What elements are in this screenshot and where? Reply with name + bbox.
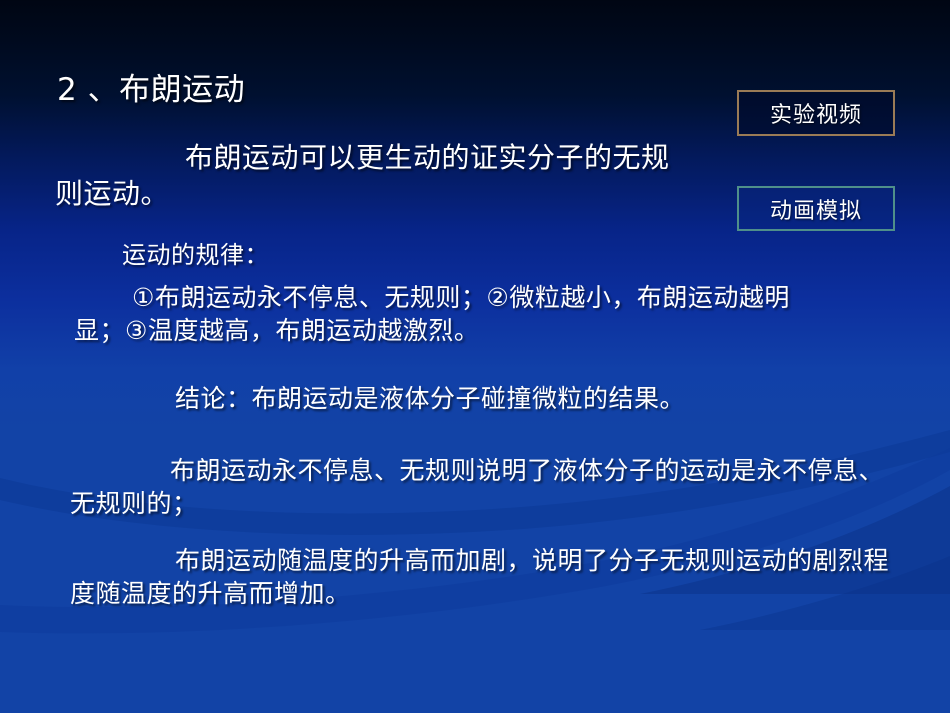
experiment-video-button-label: 实验视频	[770, 97, 862, 129]
conclusion-text: 结论：布朗运动是液体分子碰撞微粒的结果。	[175, 383, 685, 416]
slide-content-layer: 2 、布朗运动 布朗运动可以更生动的证实分子的无规则运动。 运动的规律： ①布朗…	[0, 0, 950, 713]
animation-simulation-button-label: 动画模拟	[770, 193, 862, 225]
rules-heading: 运动的规律：	[122, 240, 269, 271]
rules-body: ①布朗运动永不停息、无规则；②微粒越小，布朗运动越明显；③温度越高，布朗运动越激…	[74, 282, 834, 347]
lead-paragraph: 布朗运动可以更生动的证实分子的无规则运动。	[55, 140, 695, 213]
slide-canvas: 2 、布朗运动 布朗运动可以更生动的证实分子的无规则运动。 运动的规律： ①布朗…	[0, 0, 950, 713]
explanation-paragraph-1: 布朗运动永不停息、无规则说明了液体分子的运动是永不停息、无规则的；	[70, 455, 890, 520]
page-title: 2 、布朗运动	[57, 70, 245, 110]
animation-simulation-button[interactable]: 动画模拟	[737, 186, 895, 231]
experiment-video-button[interactable]: 实验视频	[737, 90, 895, 136]
explanation-paragraph-2: 布朗运动随温度的升高而加剧，说明了分子无规则运动的剧烈程度随温度的升高而增加。	[70, 545, 900, 610]
